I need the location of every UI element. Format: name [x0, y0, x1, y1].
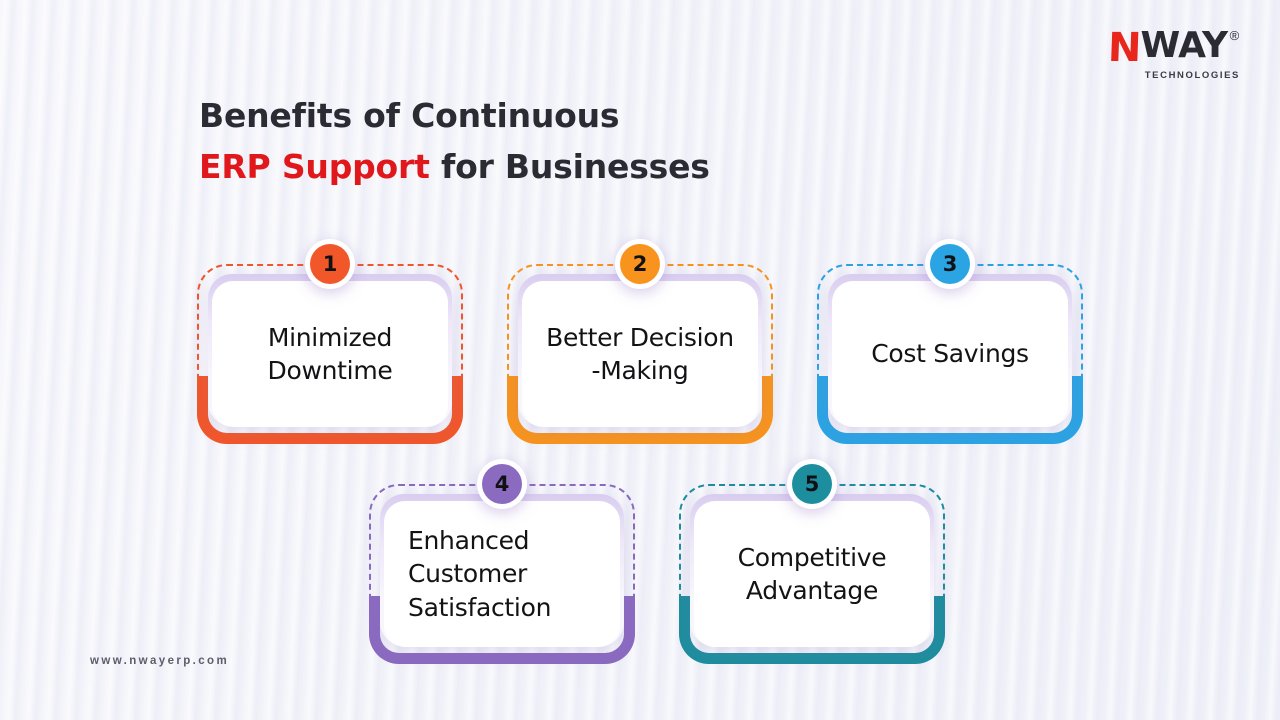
- infographic-canvas: N WAY ® TECHNOLOGIES Benefits of Continu…: [0, 0, 1280, 720]
- benefit-card-2[interactable]: Better Decision -Making 2: [507, 264, 773, 444]
- benefit-card-1-badge: 1: [305, 239, 355, 289]
- benefit-card-4-number: 4: [495, 474, 510, 495]
- badge-disc: 1: [310, 244, 350, 284]
- benefit-card-4-label: Enhanced Customer Satisfaction: [408, 524, 551, 624]
- benefit-card-4[interactable]: Enhanced Customer Satisfaction 4: [369, 484, 635, 664]
- badge-disc: 2: [620, 244, 660, 284]
- benefit-card-5-label: Competitive Advantage: [738, 541, 887, 608]
- benefit-card-1[interactable]: Minimized Downtime 1: [197, 264, 463, 444]
- registered-trademark-icon: ®: [1230, 29, 1240, 42]
- benefit-card-3-label: Cost Savings: [871, 337, 1029, 370]
- benefit-card-1-number: 1: [323, 254, 338, 275]
- benefit-card-4-badge: 4: [477, 459, 527, 509]
- benefit-card-2-label: Better Decision -Making: [546, 321, 734, 388]
- badge-disc: 3: [930, 244, 970, 284]
- brand-logo-letter-n: N: [1107, 28, 1140, 68]
- brand-logo-tagline: TECHNOLOGIES: [1108, 70, 1248, 81]
- benefit-card-3-number: 3: [943, 254, 958, 275]
- brand-logo-word-way: WAY: [1140, 28, 1227, 64]
- card-face: Minimized Downtime: [212, 281, 448, 427]
- benefit-card-5-badge: 5: [787, 459, 837, 509]
- page-title: Benefits of Continuous ERP Support for B…: [199, 90, 899, 192]
- card-face: Better Decision -Making: [522, 281, 758, 427]
- page-title-line-2-rest: for Businesses: [430, 147, 710, 186]
- benefit-card-2-badge: 2: [615, 239, 665, 289]
- benefit-card-3-badge: 3: [925, 239, 975, 289]
- card-face: Competitive Advantage: [694, 501, 930, 647]
- brand-logo: N WAY ® TECHNOLOGIES: [1108, 28, 1248, 80]
- card-face: Enhanced Customer Satisfaction: [384, 501, 620, 647]
- brand-logo-wordmark: N WAY ®: [1108, 28, 1248, 68]
- benefit-card-5-number: 5: [805, 474, 820, 495]
- page-title-line-2: ERP Support for Businesses: [199, 141, 899, 192]
- footer-website-url[interactable]: www.nwayerp.com: [90, 655, 229, 667]
- badge-disc: 4: [482, 464, 522, 504]
- benefit-card-5[interactable]: Competitive Advantage 5: [679, 484, 945, 664]
- benefit-card-3[interactable]: Cost Savings 3: [817, 264, 1083, 444]
- card-face: Cost Savings: [832, 281, 1068, 427]
- benefit-card-2-number: 2: [633, 254, 648, 275]
- page-title-line-1: Benefits of Continuous: [199, 90, 899, 141]
- benefit-card-1-label: Minimized Downtime: [268, 321, 393, 388]
- page-title-accent: ERP Support: [199, 147, 430, 186]
- badge-disc: 5: [792, 464, 832, 504]
